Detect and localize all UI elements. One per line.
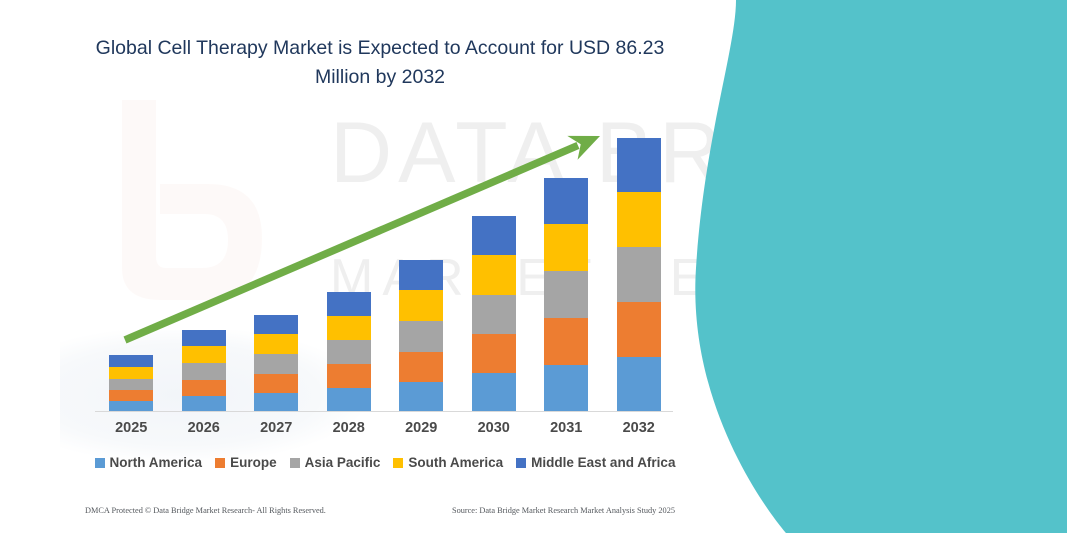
x-axis-label-2026: 2026 <box>174 420 234 436</box>
bar-segment[interactable] <box>182 363 226 380</box>
legend-label: Europe <box>230 455 277 470</box>
bar-segment[interactable] <box>399 382 443 412</box>
bar-segment[interactable] <box>617 138 661 192</box>
chart-title: Global Cell Therapy Market is Expected t… <box>70 34 690 93</box>
bar-segment[interactable] <box>254 374 298 393</box>
bar-segment[interactable] <box>399 352 443 382</box>
legend-label: Asia Pacific <box>305 455 381 470</box>
stacked-bar[interactable] <box>617 138 661 412</box>
chart-legend: North AmericaEuropeAsia PacificSouth Ame… <box>85 455 685 470</box>
bar-segment[interactable] <box>327 364 371 388</box>
chart-x-axis: 20252026202720282029203020312032 <box>95 420 675 444</box>
bar-segment[interactable] <box>472 334 516 373</box>
legend-label: North America <box>110 455 203 470</box>
bar-segment[interactable] <box>399 290 443 321</box>
bar-segment[interactable] <box>617 302 661 357</box>
bar-segment[interactable] <box>254 393 298 412</box>
bar-segment[interactable] <box>399 260 443 290</box>
bar-segment[interactable] <box>472 216 516 255</box>
legend-swatch-icon <box>393 458 403 468</box>
legend-swatch-icon <box>290 458 300 468</box>
bar-segment[interactable] <box>472 255 516 295</box>
bar-segment[interactable] <box>327 292 371 316</box>
chart-baseline <box>95 411 673 412</box>
stacked-bar[interactable] <box>472 216 516 412</box>
bar-segment[interactable] <box>544 271 588 318</box>
chart-plot-area <box>95 110 675 412</box>
bar-segment[interactable] <box>544 365 588 412</box>
bar-segment[interactable] <box>327 316 371 340</box>
stacked-bar[interactable] <box>254 315 298 412</box>
stacked-bar[interactable] <box>399 260 443 412</box>
x-axis-label-2032: 2032 <box>609 420 669 436</box>
legend-item[interactable]: Middle East and Africa <box>516 455 675 470</box>
chart-panel: DATA BRIDGE MARKET RESEARCH Global Cell … <box>0 0 760 533</box>
legend-item[interactable]: South America <box>393 455 503 470</box>
bar-segment[interactable] <box>617 357 661 412</box>
legend-item[interactable]: North America <box>95 455 203 470</box>
bar-segment[interactable] <box>182 330 226 346</box>
legend-label: South America <box>408 455 503 470</box>
bar-segment[interactable] <box>544 318 588 365</box>
legend-swatch-icon <box>215 458 225 468</box>
x-axis-label-2030: 2030 <box>464 420 524 436</box>
bar-segment[interactable] <box>109 367 153 379</box>
legend-item[interactable]: Asia Pacific <box>290 455 381 470</box>
bar-segment[interactable] <box>544 224 588 271</box>
teal-background-shape <box>690 0 1067 533</box>
bar-segment[interactable] <box>472 373 516 412</box>
x-axis-label-2025: 2025 <box>101 420 161 436</box>
stacked-bar[interactable] <box>182 330 226 412</box>
bar-segment[interactable] <box>327 340 371 364</box>
footer-copyright: DMCA Protected © Data Bridge Market Rese… <box>85 506 326 515</box>
infographic-page: DATA BRIDGE MARKET RESEARCH Global Cell … <box>0 0 1067 533</box>
footer-source: Source: Data Bridge Market Research Mark… <box>452 506 675 515</box>
legend-label: Middle East and Africa <box>531 455 675 470</box>
bar-segment[interactable] <box>109 390 153 401</box>
stacked-bar[interactable] <box>544 178 588 412</box>
bar-segment[interactable] <box>182 346 226 363</box>
legend-swatch-icon <box>516 458 526 468</box>
x-axis-label-2031: 2031 <box>536 420 596 436</box>
x-axis-label-2027: 2027 <box>246 420 306 436</box>
bar-segment[interactable] <box>254 354 298 374</box>
bar-segment[interactable] <box>182 396 226 412</box>
footer: DMCA Protected © Data Bridge Market Rese… <box>85 506 675 515</box>
bar-segment[interactable] <box>254 315 298 334</box>
bar-segment[interactable] <box>327 388 371 412</box>
stacked-bar[interactable] <box>109 355 153 412</box>
x-axis-label-2028: 2028 <box>319 420 379 436</box>
bar-segment[interactable] <box>617 247 661 302</box>
bar-segment[interactable] <box>617 192 661 247</box>
legend-item[interactable]: Europe <box>215 455 277 470</box>
x-axis-label-2029: 2029 <box>391 420 451 436</box>
bar-segment[interactable] <box>182 380 226 396</box>
legend-swatch-icon <box>95 458 105 468</box>
bar-segment[interactable] <box>254 334 298 354</box>
bar-segment[interactable] <box>109 379 153 390</box>
brand-panel: Global Cell Therapy Market, By Regions, … <box>690 0 1067 533</box>
bar-segment[interactable] <box>472 295 516 334</box>
bar-segment[interactable] <box>399 321 443 352</box>
bar-segment[interactable] <box>544 178 588 224</box>
bar-segment[interactable] <box>109 355 153 367</box>
stacked-bar[interactable] <box>327 292 371 412</box>
